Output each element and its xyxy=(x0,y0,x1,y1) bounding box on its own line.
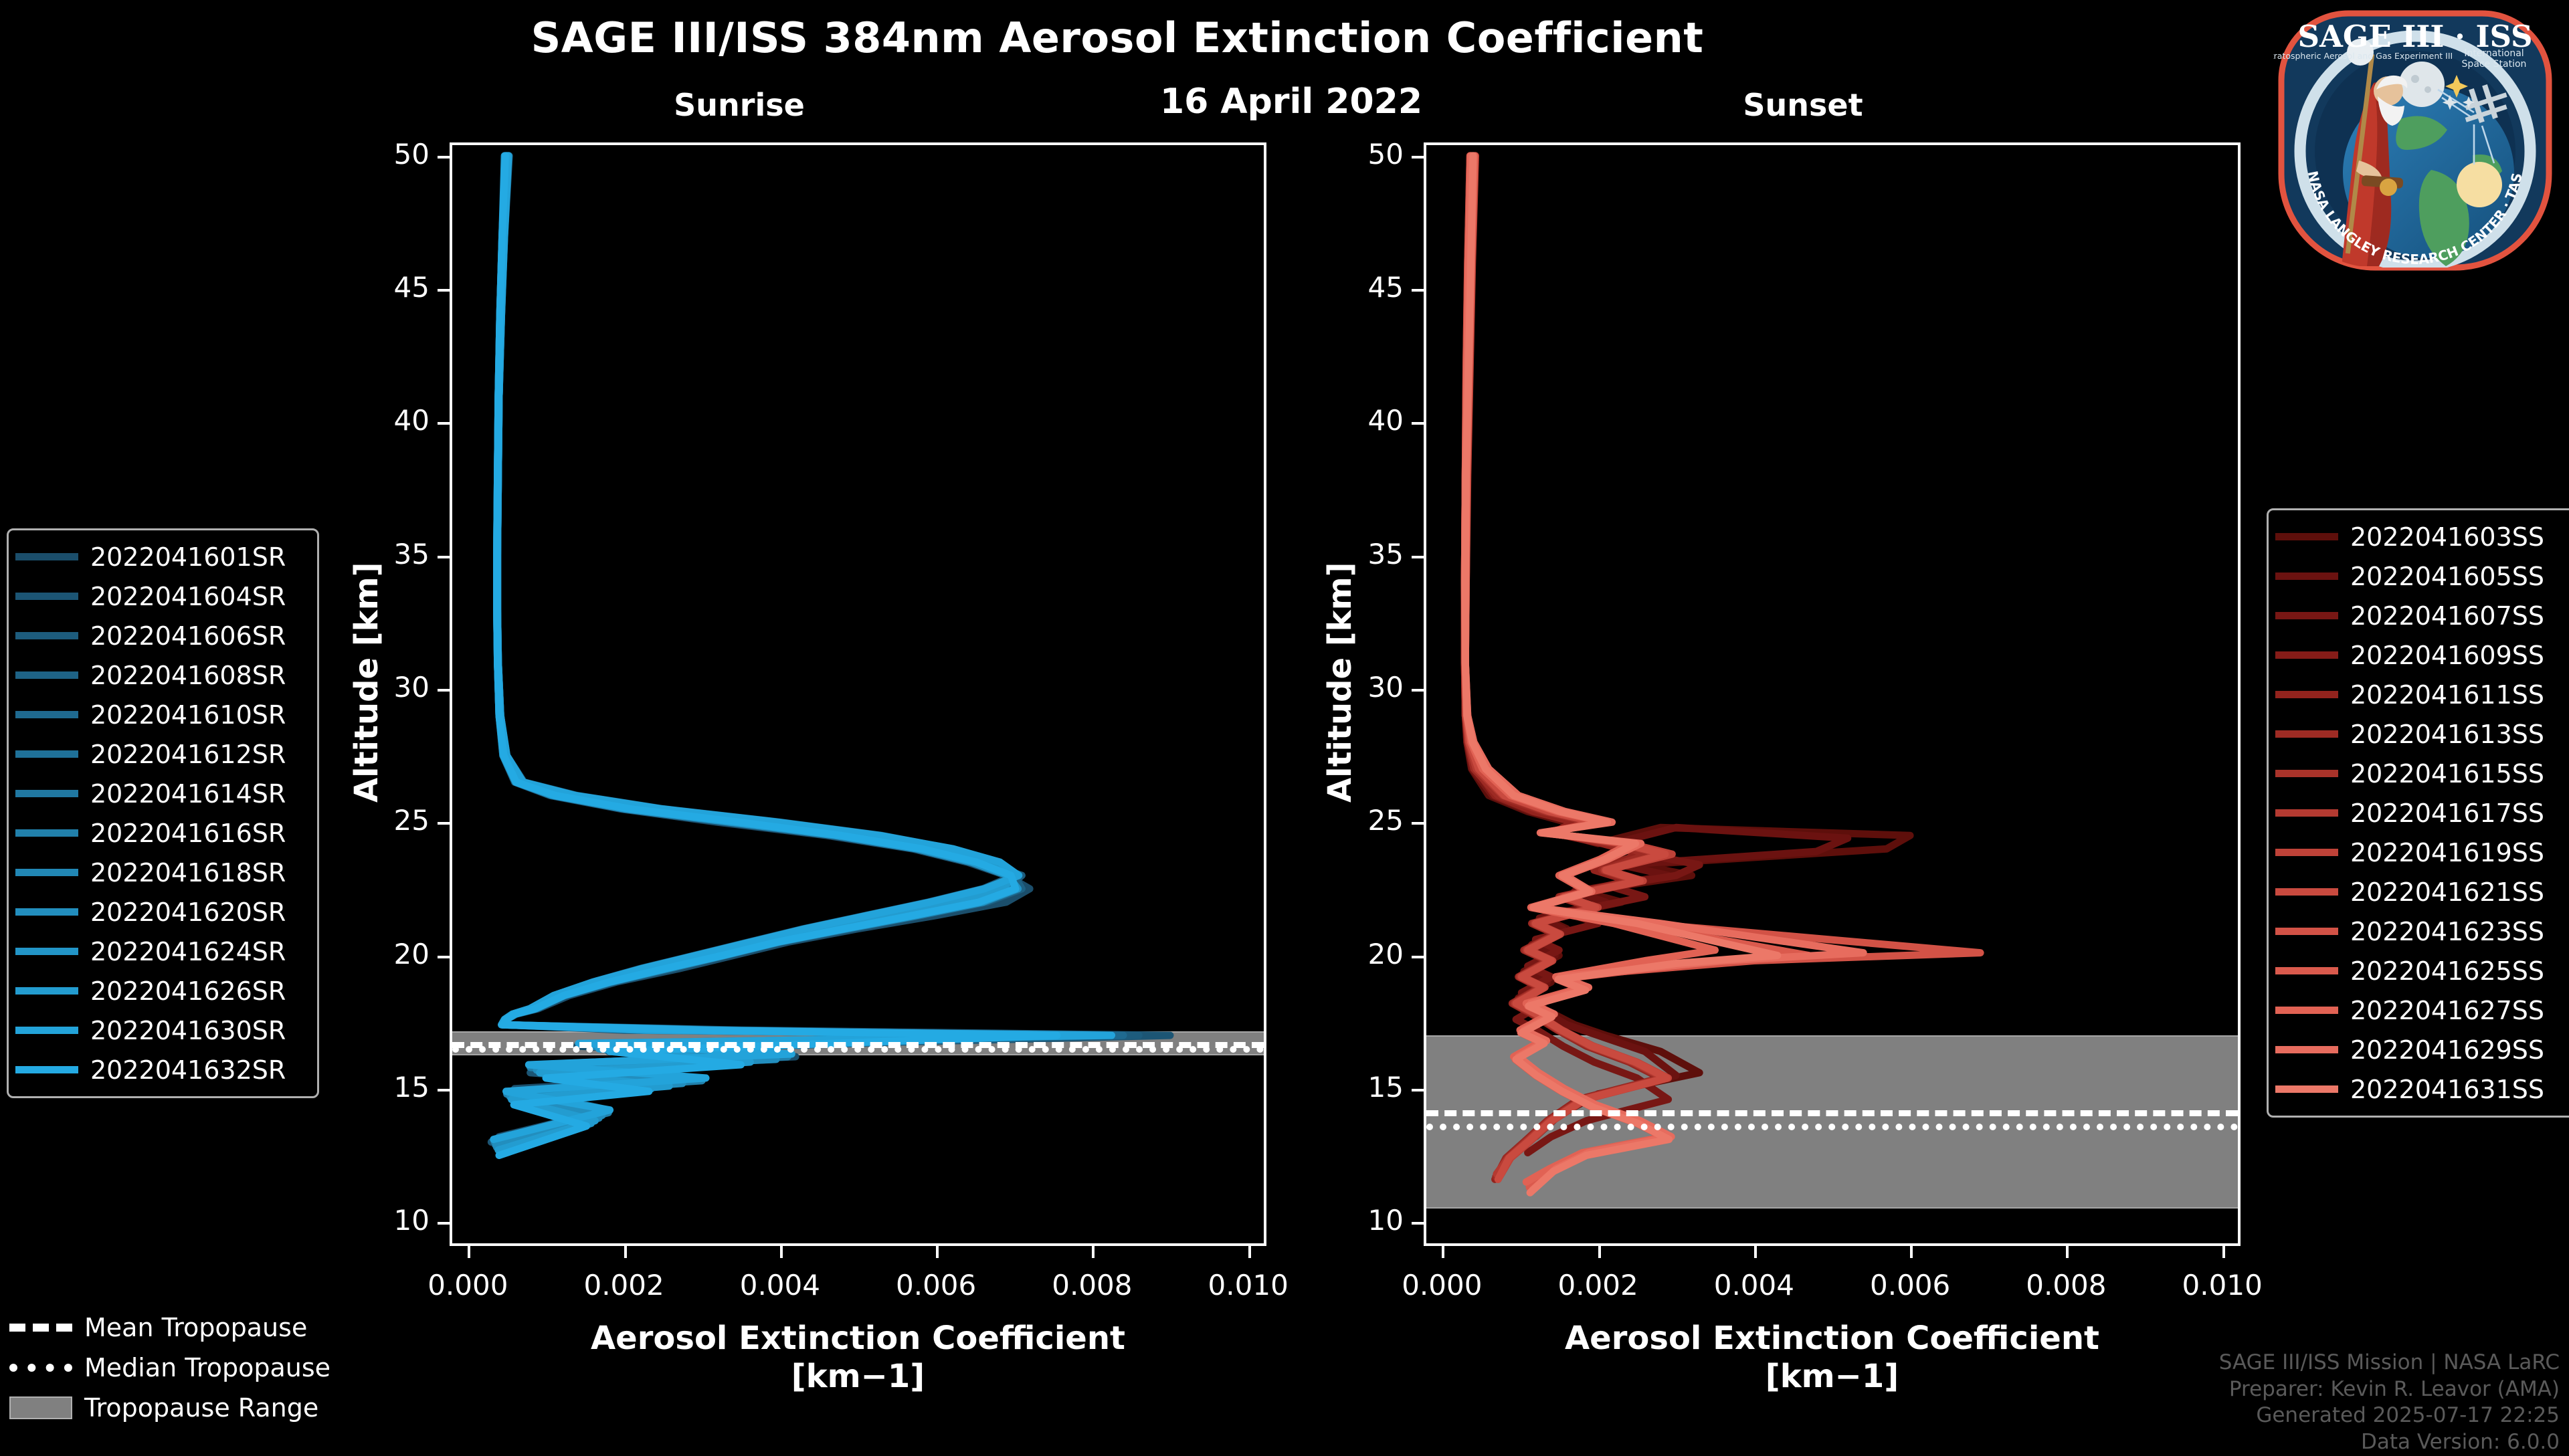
credits-block: SAGE III/ISS Mission | NASA LaRC Prepare… xyxy=(2091,1350,2560,1456)
legend-color-swatch xyxy=(2275,1046,2338,1053)
y-axis-tick-label: 45 xyxy=(1317,271,1404,304)
y-axis-tick-label: 15 xyxy=(343,1071,430,1104)
x-axis-tick xyxy=(624,1246,627,1258)
x-axis-tick xyxy=(1910,1246,1913,1258)
y-axis-tick xyxy=(438,689,450,692)
legend-item-label: 2022041607SS xyxy=(2350,601,2568,631)
credit-data-version: Data Version: 6.0.0 xyxy=(2091,1429,2560,1456)
legend-sunrise-item[interactable]: 2022041630SR xyxy=(15,1011,308,1050)
y-axis-tick xyxy=(438,1222,450,1225)
legend-sunrise-item[interactable]: 2022041614SR xyxy=(15,774,308,813)
legend-item-label: 2022041611SS xyxy=(2350,680,2568,710)
legend-sunset-item[interactable]: 2022041607SS xyxy=(2275,596,2568,635)
legend-sunset-item[interactable]: 2022041617SS xyxy=(2275,793,2568,833)
y-axis-tick-label: 25 xyxy=(1317,804,1404,837)
x-axis-tick xyxy=(2066,1246,2069,1258)
legend-sunrise-item[interactable]: 2022041604SR xyxy=(15,577,308,616)
y-axis-tick xyxy=(438,1089,450,1091)
y-axis-tick xyxy=(1412,556,1424,558)
legend-color-swatch xyxy=(2275,573,2338,580)
series-line xyxy=(491,156,1170,1142)
legend-sunset-item[interactable]: 2022041605SS xyxy=(2275,556,2568,596)
legend-item-label: 2022041632SR xyxy=(90,1055,308,1085)
legend-item-label: 2022041627SS xyxy=(2350,996,2568,1025)
y-axis-tick-label: 20 xyxy=(343,938,430,970)
x-axis-tick xyxy=(780,1246,783,1258)
y-axis-tick xyxy=(1412,1089,1424,1091)
y-axis-tick-label: 45 xyxy=(343,271,430,304)
tropopause-legend-swatch xyxy=(9,1324,72,1332)
tropopause-legend-label: Median Tropopause xyxy=(84,1353,330,1382)
legend-color-swatch xyxy=(15,829,78,837)
legend-sunset-item[interactable]: 2022041603SS xyxy=(2275,517,2568,556)
x-axis-tick-label: 0.000 xyxy=(387,1269,548,1302)
y-axis-tick-label: 40 xyxy=(1317,404,1404,437)
x-axis-tick-label: 0.008 xyxy=(1012,1269,1172,1302)
x-axis-tick xyxy=(1092,1246,1095,1258)
legend-color-swatch xyxy=(2275,691,2338,698)
plot-area-sunrise xyxy=(450,142,1266,1246)
legend-item-label: 2022041608SR xyxy=(90,661,308,690)
y-axis-tick-label: 40 xyxy=(343,404,430,437)
x-axis-tick-label: 0.010 xyxy=(1168,1269,1329,1302)
x-axis-tick xyxy=(1598,1246,1601,1258)
tropopause-legend-swatch xyxy=(9,1364,72,1372)
logo-sub-right-1: International xyxy=(2464,48,2524,59)
x-axis-tick xyxy=(936,1246,939,1258)
series-line xyxy=(1465,156,1699,1153)
tropopause-legend-swatch xyxy=(9,1396,72,1419)
legend-color-swatch xyxy=(15,711,78,718)
legend-item-label: 2022041629SS xyxy=(2350,1035,2568,1065)
page-title: SAGE III/ISS 384nm Aerosol Extinction Co… xyxy=(0,13,2234,62)
legend-item-label: 2022041601SR xyxy=(90,542,308,572)
x-axis-tick xyxy=(1248,1246,1251,1258)
legend-item-label: 2022041603SS xyxy=(2350,522,2568,552)
y-axis-tick xyxy=(1412,156,1424,159)
x-axis-tick-label: 0.004 xyxy=(700,1269,860,1302)
x-axis-title-line1: Aerosol Extinction Coefficient xyxy=(450,1320,1266,1358)
y-axis-tick xyxy=(438,156,450,159)
y-axis-tick-label: 15 xyxy=(1317,1071,1404,1104)
tropopause-legend-item: Median Tropopause xyxy=(9,1348,330,1388)
legend-sunset-item[interactable]: 2022041623SS xyxy=(2275,912,2568,951)
legend-item-label: 2022041616SR xyxy=(90,819,308,848)
series-line xyxy=(497,156,1050,1153)
legend-color-swatch xyxy=(15,1027,78,1034)
y-axis-title-sunrise: Altitude [km] xyxy=(348,562,385,803)
legend-color-swatch xyxy=(2275,967,2338,974)
x-axis-tick-label: 0.002 xyxy=(1518,1269,1679,1302)
legend-sunrise-item[interactable]: 2022041626SR xyxy=(15,971,308,1011)
series-line xyxy=(495,156,1139,1145)
legend-item-label: 2022041631SS xyxy=(2350,1075,2568,1104)
mean-tropopause-line xyxy=(1426,1110,2238,1116)
y-axis-tick-label: 20 xyxy=(1317,938,1404,970)
legend-item-label: 2022041624SR xyxy=(90,937,308,966)
legend-sunrise[interactable]: 2022041601SR2022041604SR2022041606SR2022… xyxy=(7,528,319,1098)
series-line xyxy=(497,156,1061,1150)
y-axis-title-sunset: Altitude [km] xyxy=(1321,562,1359,803)
legend-color-swatch xyxy=(2275,1007,2338,1014)
legend-color-swatch xyxy=(15,632,78,639)
x-axis-title-line2: [km−1] xyxy=(450,1358,1266,1396)
series-line xyxy=(1465,156,1808,1187)
median-tropopause-line xyxy=(1426,1124,2238,1130)
y-axis-tick xyxy=(1412,1222,1424,1225)
legend-item-label: 2022041618SR xyxy=(90,858,308,888)
legend-sunrise-item[interactable]: 2022041601SR xyxy=(15,537,308,577)
series-line xyxy=(498,156,1084,1145)
legend-item-label: 2022041626SR xyxy=(90,976,308,1006)
tropopause-legend-item: Mean Tropopause xyxy=(9,1308,330,1348)
x-axis-tick-label: 0.006 xyxy=(1830,1269,1990,1302)
legend-color-swatch xyxy=(15,671,78,679)
legend-color-swatch xyxy=(15,750,78,758)
subtitle-sunrise: Sunrise xyxy=(629,87,850,123)
logo-sub-right-2: Space Station xyxy=(2462,59,2527,70)
legend-color-swatch xyxy=(2275,888,2338,896)
legend-sunrise-item[interactable]: 2022041632SR xyxy=(15,1050,308,1089)
y-axis-tick-label: 50 xyxy=(1317,138,1404,171)
legend-item-label: 2022041630SR xyxy=(90,1016,308,1045)
y-axis-tick xyxy=(438,289,450,292)
legend-color-swatch xyxy=(2275,928,2338,935)
x-axis-tick-label: 0.008 xyxy=(1986,1269,2146,1302)
median-tropopause-line xyxy=(452,1046,1264,1053)
y-axis-tick-label: 10 xyxy=(343,1204,430,1237)
legend-sunset-item[interactable]: 2022041621SS xyxy=(2275,872,2568,912)
x-axis-tick xyxy=(2222,1246,2225,1258)
x-axis-tick-label: 0.002 xyxy=(544,1269,704,1302)
y-axis-tick xyxy=(1412,822,1424,825)
legend-color-swatch xyxy=(15,790,78,797)
subtitle-sunset: Sunset xyxy=(1693,87,1913,123)
y-axis-tick xyxy=(438,822,450,825)
tropopause-legend-label: Tropopause Range xyxy=(84,1393,318,1423)
x-axis-tick xyxy=(1754,1246,1757,1258)
logo-sub-left: Stratospheric Aerosol and Gas Experiment… xyxy=(2273,51,2453,61)
legend-color-swatch xyxy=(2275,770,2338,777)
legend-sunrise-item[interactable]: 2022041608SR xyxy=(15,655,308,695)
legend-item-label: 2022041614SR xyxy=(90,779,308,809)
legend-color-swatch xyxy=(2275,651,2338,659)
legend-tropopause: Mean TropopauseMedian TropopauseTropopau… xyxy=(9,1308,330,1428)
legend-sunrise-item[interactable]: 2022041612SR xyxy=(15,734,308,774)
legend-sunset-item[interactable]: 2022041613SS xyxy=(2275,714,2568,754)
y-axis-tick xyxy=(438,422,450,425)
legend-item-label: 2022041604SR xyxy=(90,582,308,611)
y-axis-tick-label: 25 xyxy=(343,804,430,837)
legend-sunset[interactable]: 2022041603SS2022041605SS2022041607SS2022… xyxy=(2267,508,2569,1118)
tropopause-legend-item: Tropopause Range xyxy=(9,1388,330,1428)
legend-item-label: 2022041609SS xyxy=(2350,641,2568,670)
legend-sunrise-item[interactable]: 2022041616SR xyxy=(15,813,308,853)
legend-item-label: 2022041620SR xyxy=(90,898,308,927)
x-axis-tick-label: 0.010 xyxy=(2142,1269,2303,1302)
legend-item-label: 2022041606SR xyxy=(90,621,308,651)
tropopause-legend-label: Mean Tropopause xyxy=(84,1313,307,1342)
legend-color-swatch xyxy=(2275,533,2338,540)
series-line xyxy=(498,156,1069,1150)
x-axis-tick xyxy=(468,1246,470,1258)
y-axis-tick xyxy=(438,556,450,558)
legend-color-swatch xyxy=(15,869,78,876)
legend-color-swatch xyxy=(15,948,78,955)
legend-item-label: 2022041621SS xyxy=(2350,877,2568,907)
x-axis-tick-label: 0.000 xyxy=(1361,1269,1522,1302)
credit-generated: Generated 2025-07-17 22:25 xyxy=(2091,1402,2560,1429)
legend-color-swatch xyxy=(15,593,78,600)
y-axis-tick xyxy=(1412,956,1424,958)
legend-sunset-item[interactable]: 2022041609SS xyxy=(2275,635,2568,675)
legend-item-label: 2022041617SS xyxy=(2350,799,2568,828)
legend-color-swatch xyxy=(15,908,78,916)
legend-sunset-item[interactable]: 2022041615SS xyxy=(2275,754,2568,793)
legend-sunset-item[interactable]: 2022041631SS xyxy=(2275,1069,2568,1109)
legend-sunrise-item[interactable]: 2022041610SR xyxy=(15,695,308,734)
y-axis-tick xyxy=(1412,422,1424,425)
legend-color-swatch xyxy=(2275,730,2338,738)
legend-item-label: 2022041605SS xyxy=(2350,562,2568,591)
y-axis-tick xyxy=(1412,689,1424,692)
legend-sunrise-item[interactable]: 2022041620SR xyxy=(15,892,308,932)
legend-sunrise-item[interactable]: 2022041618SR xyxy=(15,853,308,892)
sage-iii-iss-logo: SAGE III · ISS Stratospheric Aerosol and… xyxy=(2273,5,2557,276)
legend-sunset-item[interactable]: 2022041629SS xyxy=(2275,1030,2568,1069)
legend-color-swatch xyxy=(15,553,78,560)
legend-sunrise-item[interactable]: 2022041624SR xyxy=(15,932,308,971)
series-line xyxy=(497,156,1108,1148)
legend-sunrise-item[interactable]: 2022041606SR xyxy=(15,616,308,655)
series-layer xyxy=(452,145,1264,1243)
legend-color-swatch xyxy=(15,1066,78,1073)
legend-sunset-item[interactable]: 2022041611SS xyxy=(2275,675,2568,714)
x-axis-tick xyxy=(1442,1246,1444,1258)
x-axis-tick-label: 0.004 xyxy=(1674,1269,1834,1302)
legend-item-label: 2022041619SS xyxy=(2350,838,2568,867)
legend-color-swatch xyxy=(15,987,78,995)
y-axis-tick-label: 50 xyxy=(343,138,430,171)
y-axis-tick-label: 10 xyxy=(1317,1204,1404,1237)
legend-sunset-item[interactable]: 2022041625SS xyxy=(2275,951,2568,991)
credit-mission: SAGE III/ISS Mission | NASA LaRC xyxy=(2091,1350,2560,1376)
legend-color-swatch xyxy=(2275,849,2338,856)
legend-item-label: 2022041610SR xyxy=(90,700,308,730)
series-line xyxy=(496,156,1092,1145)
subtitle-date: 16 April 2022 xyxy=(1057,82,1525,122)
credit-preparer: Preparer: Kevin R. Leavor (AMA) xyxy=(2091,1376,2560,1403)
legend-sunset-item[interactable]: 2022041627SS xyxy=(2275,991,2568,1030)
legend-item-label: 2022041623SS xyxy=(2350,917,2568,946)
legend-item-label: 2022041615SS xyxy=(2350,759,2568,789)
legend-color-swatch xyxy=(2275,612,2338,619)
series-line xyxy=(497,156,1077,1148)
y-axis-tick xyxy=(1412,289,1424,292)
y-axis-tick xyxy=(438,956,450,958)
legend-item-label: 2022041612SR xyxy=(90,740,308,769)
series-line xyxy=(497,156,1057,1156)
plot-area-sunset xyxy=(1424,142,2241,1246)
legend-item-label: 2022041613SS xyxy=(2350,720,2568,749)
x-axis-title-sunrise: Aerosol Extinction Coefficient [km−1] xyxy=(450,1320,1266,1395)
legend-sunset-item[interactable]: 2022041619SS xyxy=(2275,833,2568,872)
legend-item-label: 2022041625SS xyxy=(2350,956,2568,986)
legend-color-swatch xyxy=(2275,1085,2338,1093)
x-axis-tick-label: 0.006 xyxy=(856,1269,1016,1302)
series-layer xyxy=(1426,145,2238,1243)
mission-patch-icon: SAGE III · ISS Stratospheric Aerosol and… xyxy=(2273,5,2557,276)
legend-color-swatch xyxy=(2275,809,2338,817)
